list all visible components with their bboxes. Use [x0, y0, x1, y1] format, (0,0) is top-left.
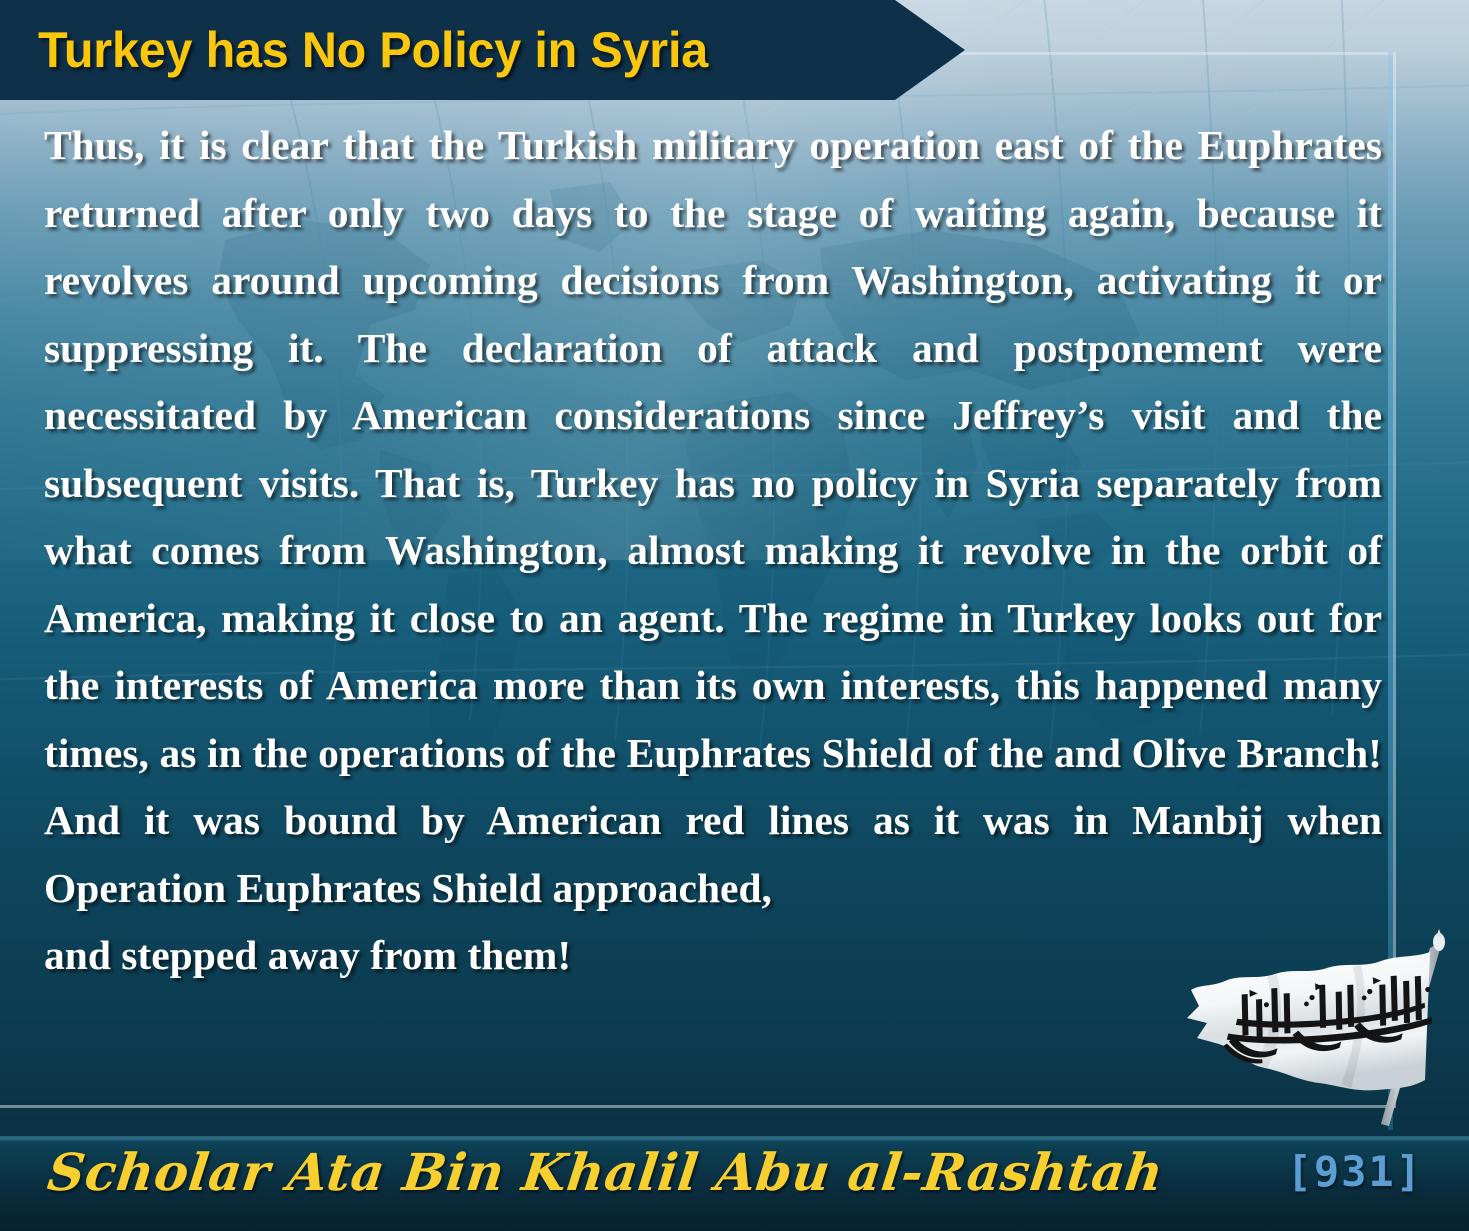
body-closing-line: and stepped away from them!	[44, 922, 1382, 990]
title-banner: Turkey has No Policy in Syria	[0, 0, 965, 100]
body-paragraph: Thus, it is clear that the Turkish milit…	[44, 112, 1382, 990]
poster-canvas: Turkey has No Policy in Syria Thus, it i…	[0, 0, 1469, 1231]
page-title: Turkey has No Policy in Syria	[38, 21, 708, 79]
page-number-badge: [931]	[1287, 1147, 1423, 1196]
right-edge-accent-line	[1388, 52, 1393, 1130]
author-signature: Scholar Ata Bin Khalil Abu al-Rashtah	[44, 1143, 1166, 1203]
body-paragraph-text: Thus, it is clear that the Turkish milit…	[44, 122, 1382, 911]
